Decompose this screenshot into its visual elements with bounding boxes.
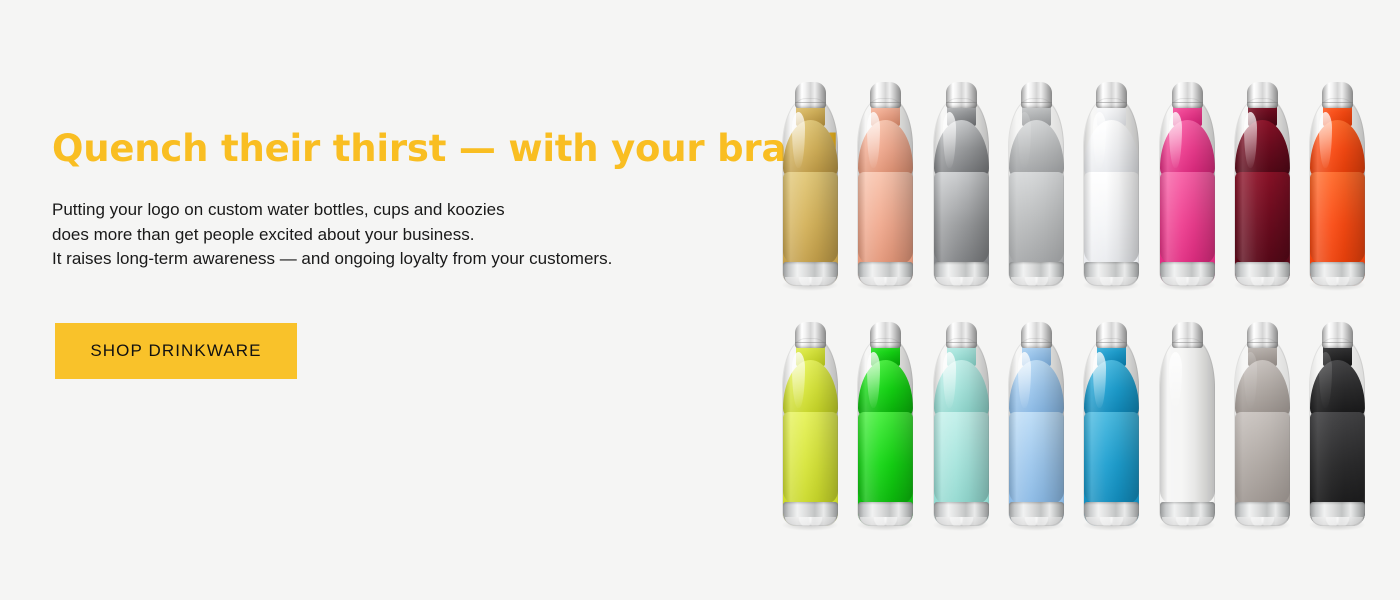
bottle-body [1081,340,1135,526]
bottle-base-band [1084,262,1139,286]
bottle-base-band [1084,502,1139,526]
bottle-base-band [783,262,838,286]
bottle-orange [1307,78,1361,286]
bottle-body [1307,340,1361,526]
shop-drinkware-button[interactable]: SHOP DRINKWARE [55,323,297,379]
bottle-navy [1157,318,1211,526]
bottle-cyan-blue [1081,318,1135,526]
bottle-cap [1247,322,1278,348]
bottle-body [1307,100,1361,286]
bottle-base-band [1235,502,1290,526]
bottle-body [1232,100,1286,286]
bottle-body [1232,340,1286,526]
bottle-base-band [1235,262,1290,286]
bottle-body [855,340,909,526]
cta-container: SHOP DRINKWARE [55,323,297,379]
bottle-matte-black [1307,318,1361,526]
bottle-cap [946,82,977,108]
hero-description-line-2: does more than get people excited about … [52,223,772,248]
bottle-base-band [1310,262,1365,286]
bottle-light-blue [1006,318,1060,526]
bottle-cap [1247,82,1278,108]
bottle-maroon [1232,78,1286,286]
bottle-cap [1322,82,1353,108]
bottle-white [1081,78,1135,286]
hero-description-line-3: It raises long-term awareness — and ongo… [52,247,772,272]
bottle-cap [795,322,826,348]
bottle-body [1157,340,1211,526]
bottle-cap [1021,322,1052,348]
bottle-cap [1021,82,1052,108]
hero-copy-block: Quench their thirst — with your brand Pu… [52,126,772,272]
bottle-body [855,100,909,286]
bottle-body [1006,340,1060,526]
bottle-cap [795,82,826,108]
bottle-body [1157,100,1211,286]
page-title: Quench their thirst — with your brand [52,126,772,172]
bottle-mint [931,318,985,526]
bottle-base-band [858,502,913,526]
hero-description: Putting your logo on custom water bottle… [52,172,772,272]
bottle-cap [1172,82,1203,108]
bottle-base-band [1009,262,1064,286]
bottle-cap [1096,322,1127,348]
bottle-cap [870,322,901,348]
bottle-base-band [858,262,913,286]
bottle-body [1081,100,1135,286]
bottle-body [931,340,985,526]
bottle-base-band [934,262,989,286]
hero-description-line-1: Putting your logo on custom water bottle… [52,198,772,223]
bottle-hot-pink [1157,78,1211,286]
bottle-body [780,100,834,286]
bottle-cap [1172,322,1203,348]
bottle-lineup-image [780,60,1390,540]
bottle-brushed-steel [1006,78,1060,286]
bottle-cap [1096,82,1127,108]
bottle-row-top [780,78,1390,293]
bottle-base-band [1310,502,1365,526]
bottle-taupe-gray [1232,318,1286,526]
bottle-chartreuse [780,318,834,526]
bottle-body [780,340,834,526]
bottle-cap [870,82,901,108]
bottle-cap [1322,322,1353,348]
bottle-body [931,100,985,286]
bottle-bright-green [855,318,909,526]
bottle-rose-gold [855,78,909,286]
bottle-body [1006,100,1060,286]
bottle-base-band [1160,502,1215,526]
bottle-base-band [1009,502,1064,526]
bottle-gold [780,78,834,286]
bottle-row-bottom [780,318,1390,533]
bottle-base-band [783,502,838,526]
drinkware-promo-hero: Quench their thirst — with your brand Pu… [0,0,1400,600]
bottle-cap [946,322,977,348]
bottle-base-band [934,502,989,526]
bottle-base-band [1160,262,1215,286]
bottle-chrome-silver [931,78,985,286]
